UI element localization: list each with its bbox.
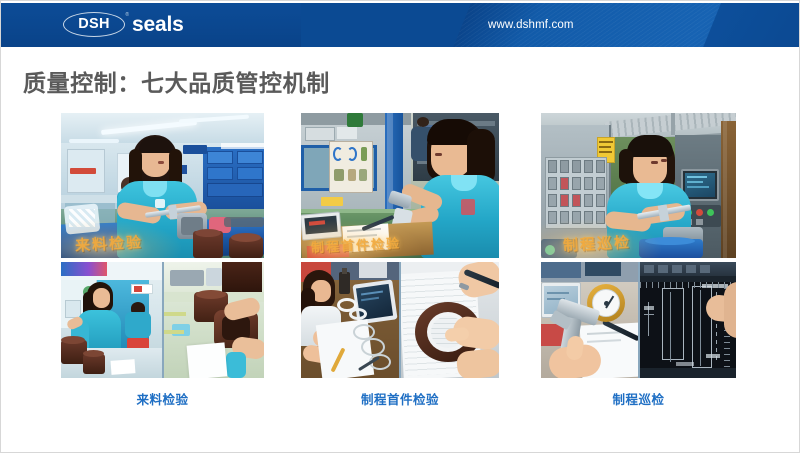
page-title: 质量控制：七大品质管控机制: [23, 64, 330, 98]
photo-first-article-bottom: [301, 262, 499, 378]
photo-half-left: [301, 262, 399, 378]
photo-half-right: [640, 262, 737, 378]
column-incoming-inspection: 来料检验: [61, 113, 264, 408]
photo-incoming-inspection-bottom: [61, 262, 264, 378]
header-diagonal-accent-2: [703, 3, 800, 47]
slide: DSH ® seals www.dshmf.com 质量控制：七大品质管控机制: [0, 0, 800, 453]
photo-stack: 制程首件检验: [301, 113, 499, 378]
caption-first-article-inspection: 制程首件检验: [301, 389, 499, 408]
brand-logo[interactable]: DSH ® seals: [63, 12, 184, 37]
photo-patrol-top: 制程巡检: [541, 113, 736, 258]
registered-trademark-icon: ®: [125, 12, 129, 18]
header-band: DSH ® seals www.dshmf.com: [1, 3, 800, 47]
photo-scene: [301, 262, 399, 378]
photo-incoming-inspection-top: 来料检验: [61, 113, 264, 258]
logo-mark-text: DSH: [78, 17, 110, 32]
photo-patrol-bottom: [541, 262, 736, 378]
photo-first-article-top: 制程首件检验: [301, 113, 499, 258]
photo-stack: 来料检验: [61, 113, 264, 378]
photo-half-left: [61, 262, 162, 378]
column-first-article-inspection: 制程首件检验: [301, 113, 499, 408]
content-columns: 来料检验: [1, 113, 800, 413]
photo-scene: [541, 262, 638, 378]
column-in-process-patrol: 制程巡检: [541, 113, 736, 408]
photo-scene: [61, 262, 162, 378]
photo-stack: 制程巡检: [541, 113, 736, 378]
photo-scene: [541, 113, 736, 258]
photo-half-right: [164, 262, 265, 378]
logo-wordmark: seals: [132, 14, 184, 35]
photo-scene: [401, 262, 499, 378]
website-url[interactable]: www.dshmf.com: [488, 19, 574, 31]
logo-ellipse-icon: DSH ®: [63, 12, 125, 37]
photo-scene: [301, 113, 499, 258]
photo-scene: [164, 262, 265, 378]
photo-scene: [61, 113, 264, 258]
caption-incoming-inspection: 来料检验: [61, 389, 264, 408]
caption-in-process-patrol: 制程巡检: [541, 389, 736, 408]
photo-half-left: [541, 262, 638, 378]
photo-scene: [640, 262, 737, 378]
photo-half-right: [401, 262, 499, 378]
